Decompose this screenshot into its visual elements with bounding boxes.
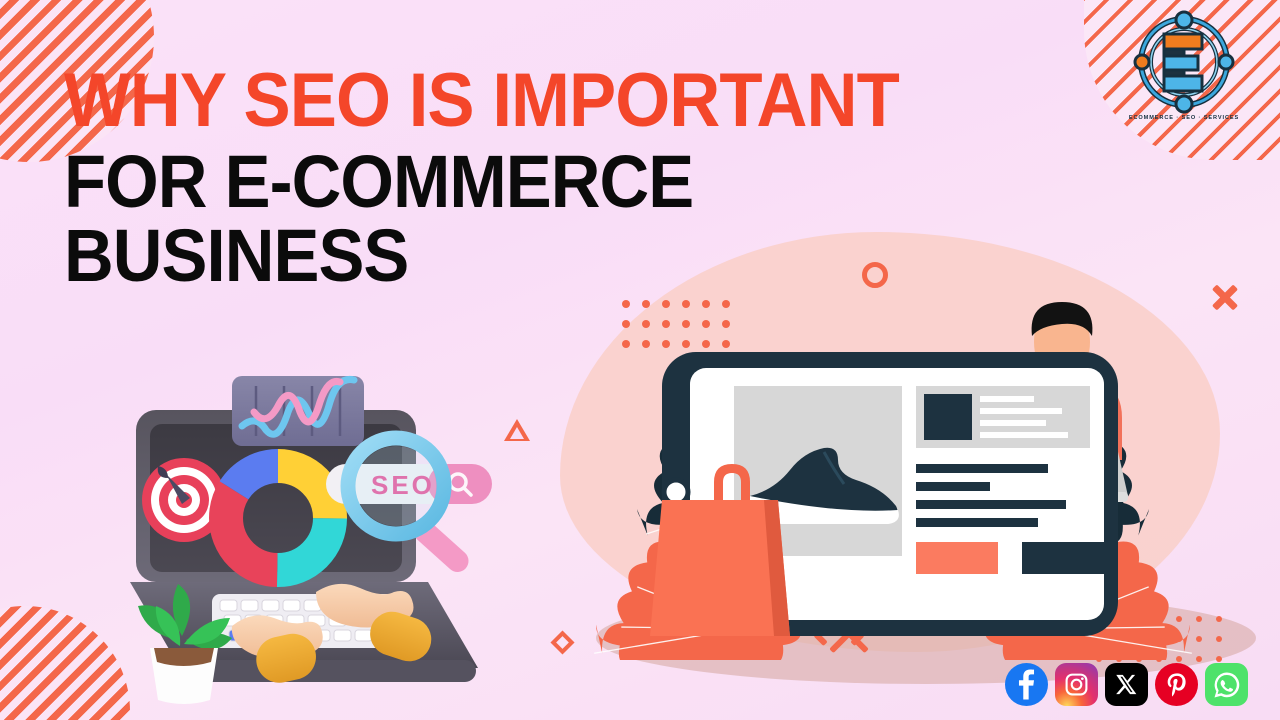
headline-line-2: FOR E-COMMERCE [64, 148, 771, 217]
social-links-bar [1005, 663, 1248, 706]
cta-primary-button [916, 542, 998, 574]
cta-secondary-button [1022, 542, 1104, 574]
line-graph-card [232, 376, 364, 446]
logo-tagline: ECOMMERCE · SEO · SERVICES [1116, 115, 1252, 121]
logo-mark-icon [1132, 10, 1236, 114]
headline-line-1: WHY SEO IS IMPORTANT [64, 66, 771, 137]
banner-canvas: SEO [0, 0, 1280, 720]
pinterest-icon[interactable] [1155, 663, 1198, 706]
headline-line-3: BUSINESS [64, 222, 771, 291]
instagram-icon[interactable] [1055, 663, 1098, 706]
stripe-corner-bottom-left [0, 606, 130, 720]
facebook-icon[interactable] [1005, 663, 1048, 706]
whatsapp-icon[interactable] [1205, 663, 1248, 706]
x-twitter-icon[interactable] [1105, 663, 1148, 706]
page-title: WHY SEO IS IMPORTANT FOR E-COMMERCE BUSI… [64, 66, 824, 291]
seo-laptop-illustration: SEO [128, 368, 538, 708]
brand-logo[interactable]: ECOMMERCE · SEO · SERVICES [1116, 10, 1252, 121]
